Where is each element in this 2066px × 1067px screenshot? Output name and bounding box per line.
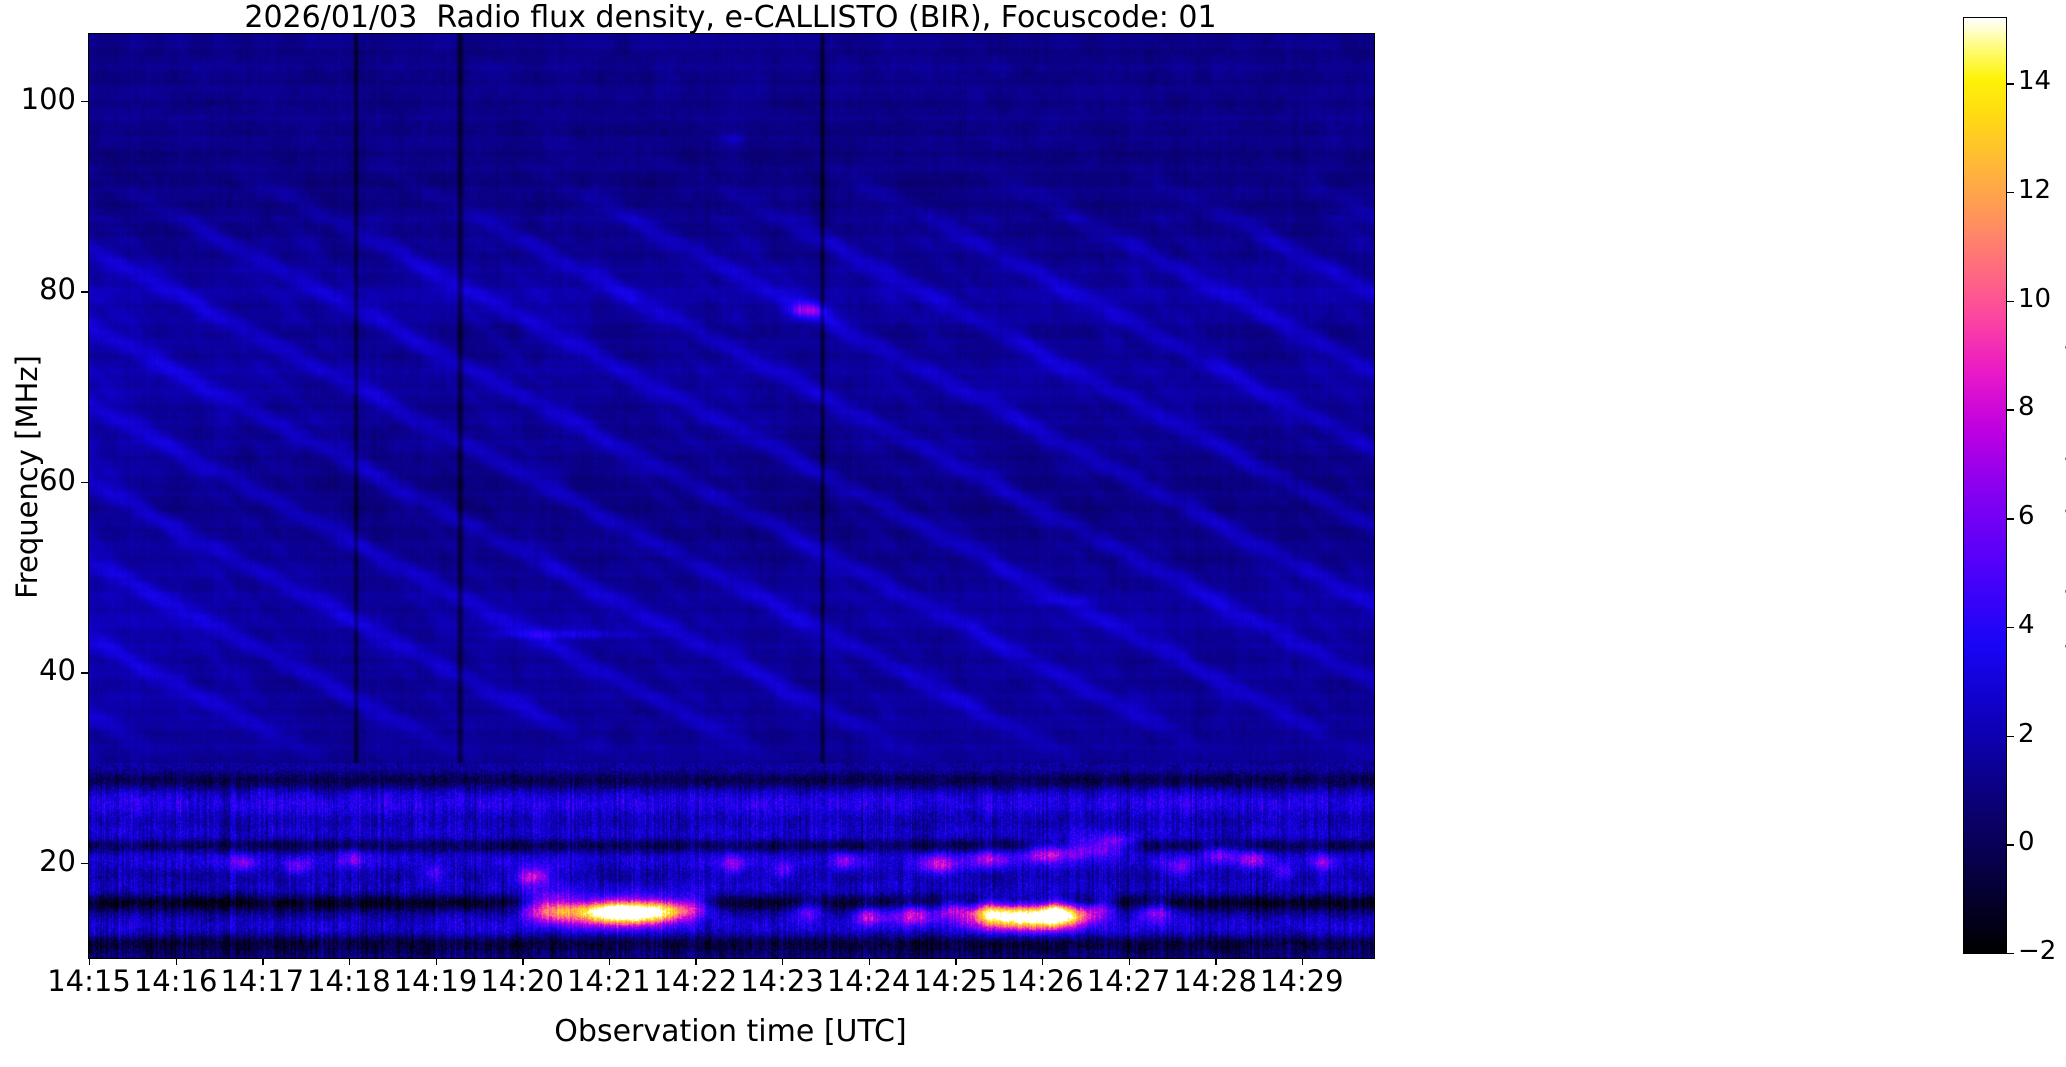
colorbar-tick-label: 12 <box>2018 175 2051 205</box>
spectrogram-image <box>89 34 1374 958</box>
y-tick-label: 40 <box>39 653 76 687</box>
y-tick-mark <box>81 101 88 102</box>
x-tick-mark <box>89 958 90 965</box>
x-tick-mark <box>782 958 783 965</box>
x-tick-mark <box>1042 958 1043 965</box>
colorbar-tick-label: −2 <box>2018 936 2056 966</box>
colorbar-tick-mark <box>2007 192 2014 193</box>
x-tick-label: 14:29 <box>1222 964 1382 998</box>
colorbar-tick-mark <box>2007 518 2014 519</box>
colorbar-gradient <box>1964 18 2006 953</box>
colorbar-tick-label: 14 <box>2018 66 2051 96</box>
colorbar-tick-label: 2 <box>2018 719 2035 749</box>
x-tick-mark <box>349 958 350 965</box>
x-tick-mark <box>1302 958 1303 965</box>
y-tick-mark <box>81 291 88 292</box>
page-title: 2026/01/03 Radio flux density, e-CALLIST… <box>88 2 1373 34</box>
y-tick-label: 60 <box>39 463 76 497</box>
y-tick-mark <box>81 863 88 864</box>
x-tick-mark <box>522 958 523 965</box>
y-tick-mark <box>81 672 88 673</box>
colorbar-label: dB above background <box>2061 292 2066 712</box>
x-tick-mark <box>436 958 437 965</box>
x-tick-mark <box>955 958 956 965</box>
colorbar-tick-label: 8 <box>2018 392 2035 422</box>
x-tick-mark <box>695 958 696 965</box>
colorbar-tick-mark <box>2007 301 2014 302</box>
colorbar-tick-label: 0 <box>2018 827 2035 857</box>
colorbar-tick-mark <box>2007 736 2014 737</box>
x-tick-mark <box>176 958 177 965</box>
x-tick-mark <box>869 958 870 965</box>
colorbar-tick-mark <box>2007 627 2014 628</box>
colorbar-tick-mark <box>2007 844 2014 845</box>
colorbar-tick-mark <box>2007 953 2014 954</box>
x-tick-mark <box>609 958 610 965</box>
y-tick-mark <box>81 482 88 483</box>
x-tick-mark <box>1129 958 1130 965</box>
colorbar-tick-label: 4 <box>2018 610 2035 640</box>
colorbar[interactable] <box>1963 17 2007 954</box>
y-tick-label: 80 <box>39 272 76 306</box>
x-tick-mark <box>1215 958 1216 965</box>
colorbar-tick-mark <box>2007 409 2014 410</box>
spectrogram-axes[interactable] <box>88 33 1375 959</box>
colorbar-tick-label: 6 <box>2018 501 2035 531</box>
figure-canvas: 2026/01/03 Radio flux density, e-CALLIST… <box>0 0 2066 1067</box>
colorbar-tick-label: 10 <box>2018 284 2051 314</box>
x-tick-mark <box>262 958 263 965</box>
x-axis-label: Observation time [UTC] <box>88 1014 1373 1049</box>
y-tick-label: 20 <box>39 844 76 878</box>
y-tick-label: 100 <box>21 82 76 116</box>
colorbar-tick-mark <box>2007 83 2014 84</box>
